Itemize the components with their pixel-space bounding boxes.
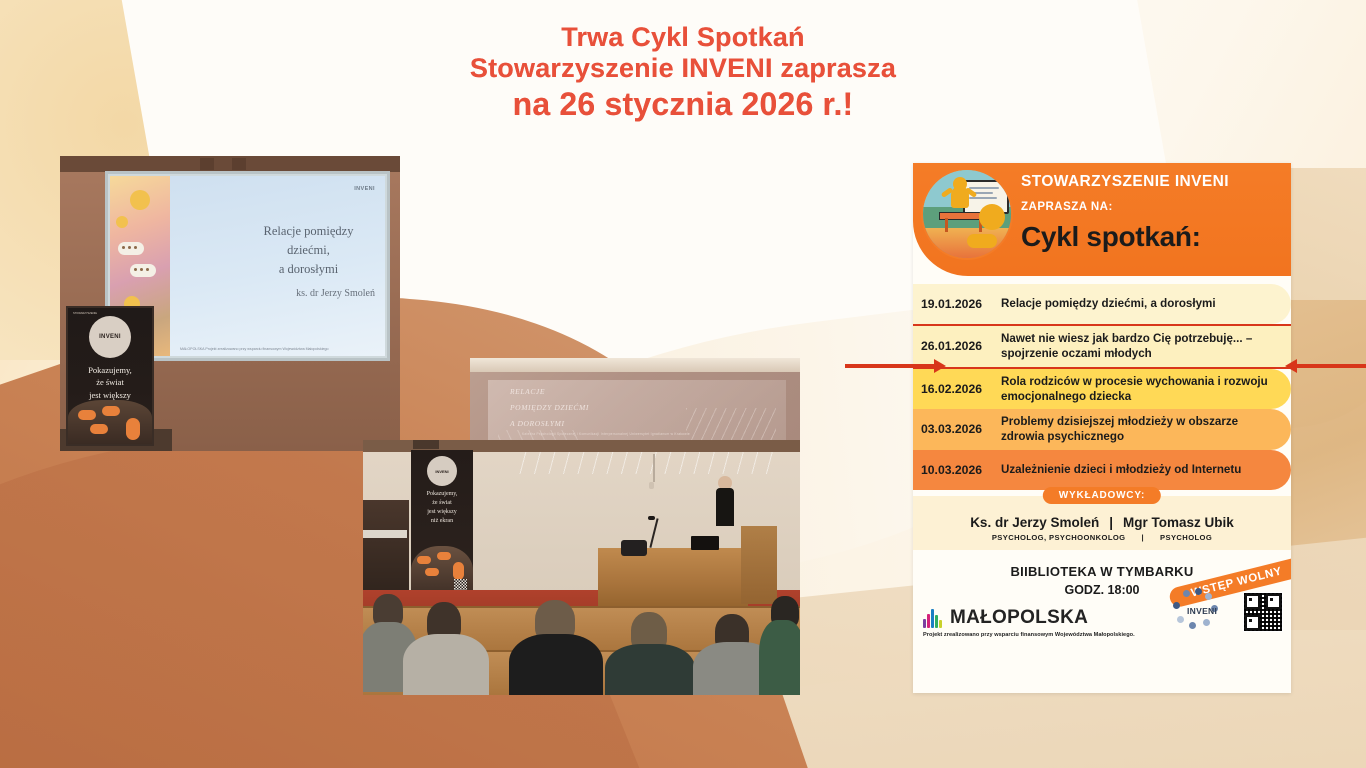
photo1-ceiling-vent	[232, 158, 246, 170]
poster-venue-section: BIIBLIOTEKA W TYMBARKU GODZ. 18:00 WSTĘP…	[913, 550, 1291, 603]
headline-line-1: Trwa Cykl Spotkań	[0, 22, 1366, 53]
photo1-ceiling-vent	[200, 158, 214, 170]
schedule-date: 03.03.2026	[921, 422, 1001, 436]
photo1-rollup-illustration	[68, 400, 152, 444]
photo1-rollup-banner: STOWARZYSZENIE INVENI Pokazujemy, że świ…	[66, 306, 154, 446]
microphone-icon	[648, 516, 655, 520]
poster-series-title: Cykl spotkań:	[1021, 221, 1283, 253]
photo-auditorium-audience: TYMBARK STOWARZYSZENIE 2026 INVENI Pokaz…	[363, 440, 800, 695]
lecturer-2-name: Mgr Tomasz Ubik	[1123, 515, 1234, 530]
photo3-rollup-logo-circle: INVENI	[427, 456, 457, 486]
photo3-piano	[363, 500, 409, 595]
inveni-wordmark: INVENI	[1187, 606, 1217, 616]
photo1-slide: INVENI Relacje pomiędzy dziećmi, a doros…	[170, 176, 385, 356]
lecturer-1-name: Ks. dr Jerzy Smoleń	[970, 515, 1099, 530]
photo3-audience-seating	[363, 606, 800, 695]
photo3-lectern	[741, 526, 777, 604]
photo1-slide-title: Relacje pomiędzy dziećmi, a dorosłymi ks…	[242, 222, 375, 301]
schedule-row: 10.03.2026 Uzależnienie dzieci i młodzie…	[913, 450, 1291, 490]
project-credit-text: Projekt zrealizowano przy wsparciu finan…	[923, 632, 1281, 638]
poster-footer: MAŁOPOLSKA Projekt zrealizowano przy wsp…	[913, 603, 1291, 646]
poster-schedule-list: 19.01.2026 Relacje pomiędzy dziećmi, a d…	[913, 276, 1291, 490]
photo1-rollup-slogan-l2: że świat	[96, 377, 124, 387]
lecturers-label: WYKŁADOWCY:	[1043, 487, 1161, 504]
schedule-date: 16.02.2026	[921, 382, 1001, 396]
schedule-topic: Rola rodziców w procesie wychowania i ro…	[1001, 374, 1281, 405]
qr-code-icon	[1243, 592, 1283, 632]
arrow-pointing-right-icon	[845, 364, 935, 368]
photo3-attendee	[759, 620, 800, 695]
photo2-projected-title: RELACJE POMIĘDZY DZIEĆMI A DOROSŁYMI	[510, 384, 589, 431]
photo2-ceiling	[470, 358, 800, 372]
event-poster: STOWARZYSZENIE INVENI ZAPRASZA NA: Cykl …	[913, 163, 1291, 693]
photo1-rollup-tiny-text: STOWARZYSZENIE	[73, 312, 97, 315]
photo3-rollup-logo-text: INVENI	[435, 469, 448, 474]
photo2-projected-l3: A DOROSŁYMI	[510, 419, 565, 428]
schedule-topic: Nawet nie wiesz jak bardzo Cię potrzebuj…	[1001, 331, 1281, 362]
photo1-rollup-logo-circle: INVENI	[89, 316, 131, 358]
malopolska-wordmark: MAŁOPOLSKA	[950, 607, 1088, 629]
photo-lecture-screen: INVENI Relacje pomiędzy dziećmi, a doros…	[60, 156, 400, 451]
photo3-rollup-slogan-l3: jest większy	[427, 509, 457, 515]
photo3-rollup-slogan-l4: niż ekran	[431, 518, 453, 524]
photo3-speaker-body	[716, 488, 734, 526]
schedule-topic: Relacje pomiędzy dziećmi, a dorosłymi	[1001, 296, 1281, 311]
photo3-hanging-cable	[653, 454, 655, 482]
photo2-projected-l1: RELACJE	[510, 387, 545, 396]
photo3-attendee	[403, 634, 489, 695]
photo3-hanging-lamp	[649, 482, 654, 489]
lecturer-1-role: PSYCHOLOG, PSYCHOONKOLOG	[992, 533, 1126, 542]
photo1-rollup-slogan-l1: Pokazujemy,	[88, 365, 132, 375]
schedule-row-highlighted: 26.01.2026 Nawet nie wiesz jak bardzo Ci…	[913, 324, 1291, 369]
poster-header: STOWARZYSZENIE INVENI ZAPRASZA NA: Cykl …	[913, 163, 1291, 276]
photo1-slide-author: ks. dr Jerzy Smoleń	[242, 286, 375, 301]
schedule-date: 10.03.2026	[921, 463, 1001, 477]
photo2-projected-l2: POMIĘDZY DZIEĆMI	[510, 403, 589, 412]
schedule-date: 19.01.2026	[921, 297, 1001, 311]
malopolska-mark-icon	[923, 608, 943, 628]
photo1-slide-title-line1: Relacje pomiędzy dziećmi,	[264, 224, 354, 257]
headline-line-2: Stowarzyszenie INVENI zaprasza	[0, 53, 1366, 84]
poster-invites-label: ZAPRASZA NA:	[1021, 201, 1283, 213]
photo1-rollup-logo-text: INVENI	[99, 334, 121, 340]
lecturer-role-separator: |	[1142, 533, 1145, 542]
lecturer-separator: |	[1109, 515, 1113, 530]
lecturer-names: Ks. dr Jerzy Smoleń | Mgr Tomasz Ubik	[913, 515, 1291, 530]
inveni-logo: INVENI	[1171, 588, 1229, 632]
headline-line-3: na 26 stycznia 2026 r.!	[0, 86, 1366, 122]
schedule-row: 03.03.2026 Problemy dzisiejszej młodzież…	[913, 409, 1291, 450]
lecturer-roles: PSYCHOLOG, PSYCHOONKOLOG | PSYCHOLOG	[913, 533, 1291, 542]
schedule-topic: Uzależnienie dzieci i młodzieży od Inter…	[1001, 462, 1281, 477]
photo3-chair	[621, 540, 647, 556]
photo1-slide-inveni-logo: INVENI	[354, 186, 375, 192]
photo3-attendee	[509, 634, 603, 695]
schedule-topic: Problemy dzisiejszej młodzieży w obszarz…	[1001, 414, 1281, 445]
schedule-row: 19.01.2026 Relacje pomiędzy dziećmi, a d…	[913, 284, 1291, 324]
photo3-laptop	[691, 536, 719, 550]
poster-lecturers-section: WYKŁADOWCY: Ks. dr Jerzy Smoleń | Mgr To…	[913, 496, 1291, 550]
schedule-row: 16.02.2026 Rola rodziców w procesie wych…	[913, 369, 1291, 410]
headline-block: Trwa Cykl Spotkań Stowarzyszenie INVENI …	[0, 22, 1366, 122]
photo3-ceiling-fixture	[413, 440, 439, 449]
photo3-rollup-slogan-l1: Pokazujemy,	[427, 491, 458, 497]
photo3-rollup-banner: INVENI Pokazujemy, że świat jest większy…	[411, 450, 473, 600]
photo3-speaker-person	[716, 476, 734, 524]
schedule-date: 26.01.2026	[921, 339, 1001, 353]
arrow-pointing-left-icon	[1296, 364, 1366, 368]
inveni-illustration-icon	[921, 168, 1013, 260]
photo3-piano-keys	[363, 530, 407, 538]
poster-org-name: STOWARZYSZENIE INVENI	[1021, 173, 1283, 191]
photo3-presenter-table	[598, 548, 748, 606]
lecturer-2-role: PSYCHOLOG	[1160, 533, 1212, 542]
photo1-slide-title-line2: a dorosłymi	[279, 262, 338, 276]
photo1-ceiling	[60, 156, 400, 172]
photo3-attendee	[605, 644, 695, 695]
photo1-rollup-slogan-l3: jest większy	[89, 390, 131, 400]
photo3-rollup-slogan: Pokazujemy, że świat jest większy niż ek…	[411, 490, 473, 526]
photo3-rollup-slogan-l2: że świat	[432, 500, 452, 506]
photo1-slide-footer: MAŁOPOLSKA Projekt zrealizowano przy wsp…	[180, 347, 377, 351]
